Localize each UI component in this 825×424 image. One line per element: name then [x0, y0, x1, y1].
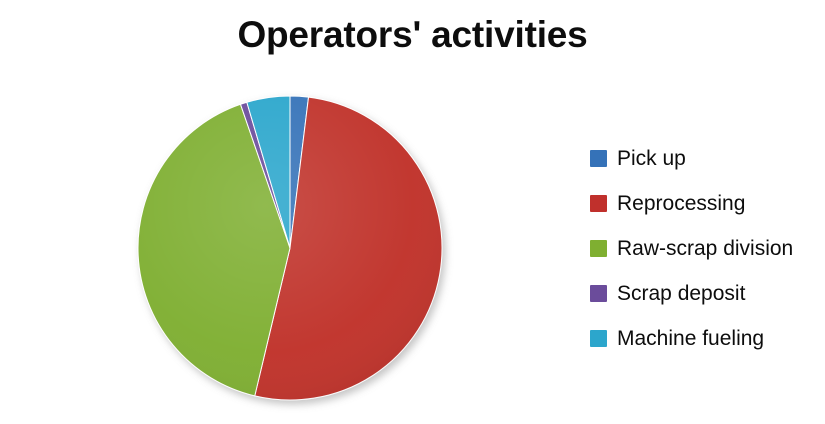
legend-label-pick-up: Pick up — [617, 148, 686, 169]
pie-plot-area — [130, 88, 460, 413]
legend-item-reprocessing[interactable]: Reprocessing — [590, 181, 825, 226]
legend-label-machine-fueling: Machine fueling — [617, 328, 764, 349]
legend-swatch-icon-raw-scrap-division — [590, 240, 607, 257]
legend-item-pick-up[interactable]: Pick up — [590, 136, 825, 181]
legend-item-raw-scrap-division[interactable]: Raw-scrap division — [590, 226, 825, 271]
legend-label-scrap-deposit: Scrap deposit — [617, 283, 745, 304]
legend-item-scrap-deposit[interactable]: Scrap deposit — [590, 271, 825, 316]
legend-item-machine-fueling[interactable]: Machine fueling — [590, 316, 825, 361]
legend-swatch-icon-pick-up — [590, 150, 607, 167]
legend-swatch-icon-scrap-deposit — [590, 285, 607, 302]
chart-legend: Pick up Reprocessing Raw-scrap division … — [590, 136, 825, 361]
pie-chart-figure: Operators' activities Pick up — [0, 0, 825, 424]
pie-svg — [130, 88, 460, 413]
legend-label-raw-scrap-division: Raw-scrap division — [617, 238, 793, 259]
pie-slice-group — [138, 96, 442, 400]
chart-title: Operators' activities — [0, 14, 825, 56]
legend-swatch-icon-reprocessing — [590, 195, 607, 212]
legend-label-reprocessing: Reprocessing — [617, 193, 745, 214]
legend-swatch-icon-machine-fueling — [590, 330, 607, 347]
